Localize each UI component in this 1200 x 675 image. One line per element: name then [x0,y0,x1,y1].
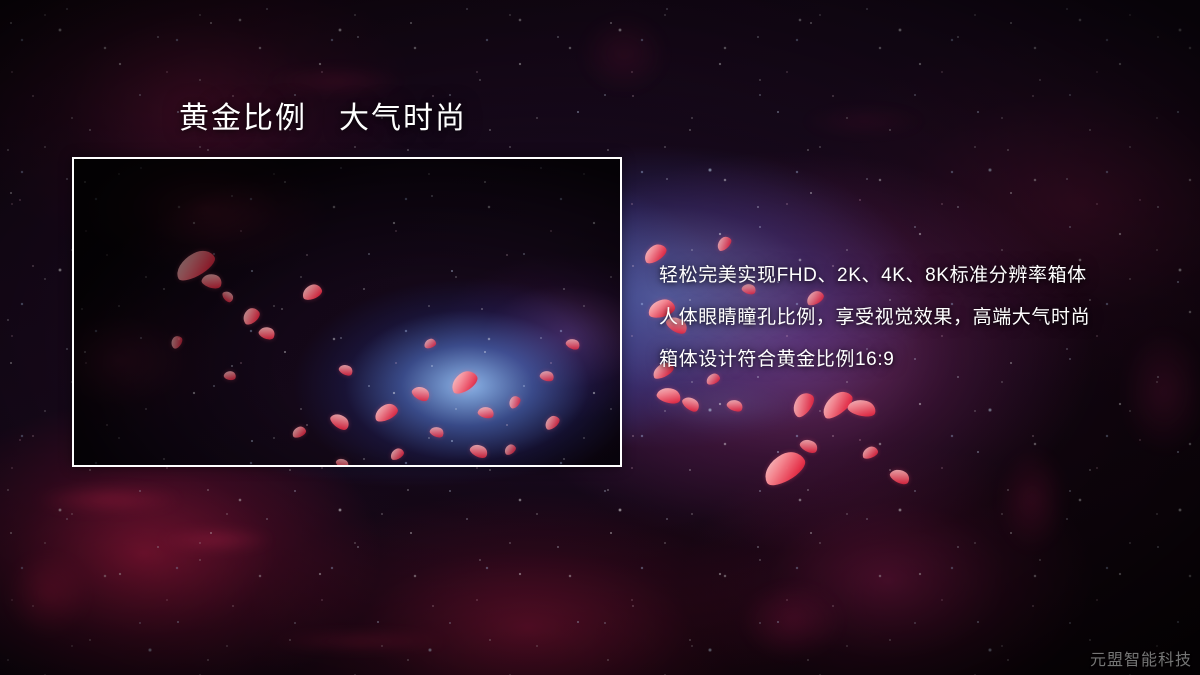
frame-vignette [74,159,620,465]
body-line-1: 轻松完美实现FHD、2K、4K、8K标准分辨率箱体 [659,255,1189,297]
body-copy: 轻松完美实现FHD、2K、4K、8K标准分辨率箱体 人体眼睛瞳孔比例，享受视觉效… [659,255,1189,381]
page-title: 黄金比例 大气时尚 [179,101,467,137]
presentation-slide: 黄金比例 大气时尚 轻松完美实现FHD、2K、4K、8K标准分辨率箱体 人体眼睛… [0,0,1200,675]
body-line-2: 人体眼睛瞳孔比例，享受视觉效果，高端大气时尚 [659,297,1189,339]
watermark-text: 元盟智能科技 [1090,646,1192,670]
framed-preview-image[interactable] [72,157,622,467]
body-line-3: 箱体设计符合黄金比例16:9 [659,339,1189,381]
